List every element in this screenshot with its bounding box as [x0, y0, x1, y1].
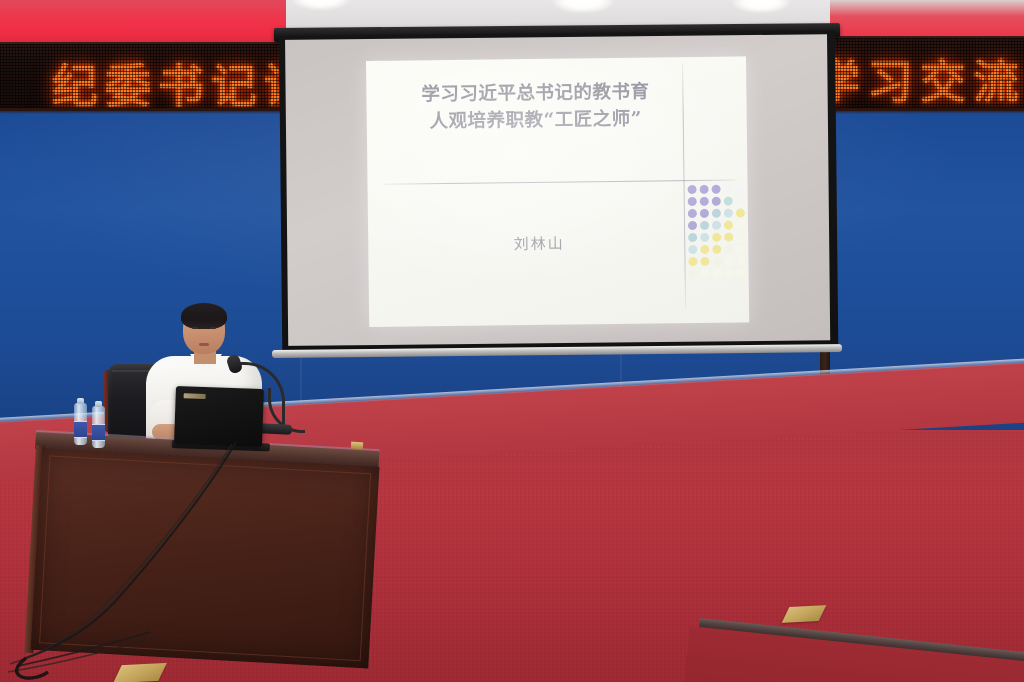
- slide-dot: [688, 209, 697, 218]
- cable-bundle: [0, 420, 400, 682]
- slide-dot: [712, 185, 721, 194]
- slide-dot: [688, 185, 697, 194]
- slide-dot: [724, 221, 733, 230]
- slide-dot: [712, 197, 721, 206]
- slide-dot: [724, 197, 733, 206]
- slide-dot: [724, 209, 733, 218]
- led-banner-right-text: 学习交流会: [828, 46, 1024, 111]
- slide-dot: [700, 185, 709, 194]
- backdrop-red-band-right: [830, 0, 1024, 40]
- slide-dot: [688, 257, 697, 266]
- slide-dot: [688, 233, 697, 242]
- slide-dot: [724, 233, 733, 242]
- slide-dot: [712, 209, 721, 218]
- backdrop-red-band-left: [0, 0, 286, 46]
- slide-dot: [700, 197, 709, 206]
- speaker-mouth: [199, 343, 209, 346]
- slide-dot: [724, 245, 733, 254]
- led-banner-right: 学习交流会: [828, 36, 1024, 111]
- slide-dot: [689, 269, 698, 278]
- slide-title-line-2: 人观培养职教“工匠之师”: [385, 106, 687, 137]
- slide-dot: [688, 221, 697, 230]
- slide-title-line-1: 学习习近平总书记的教书育: [384, 79, 686, 110]
- slide-dot: [712, 245, 721, 254]
- speaker-eye-right: [210, 327, 216, 329]
- slide-dot: [725, 269, 734, 278]
- slide-dot: [724, 257, 733, 266]
- slide-dot: [737, 268, 746, 277]
- slide-dot: [700, 233, 709, 242]
- projected-slide: 学习习近平总书记的教书育 人观培养职教“工匠之师” 刘林山: [366, 56, 749, 327]
- slide-dot: [688, 245, 697, 254]
- slide-dot: [736, 196, 745, 205]
- slide-dot: [700, 209, 709, 218]
- slide-dot: [701, 269, 710, 278]
- slide-dot: [688, 197, 697, 206]
- slide-dot: [724, 185, 733, 194]
- slide-dot: [712, 233, 721, 242]
- slide-dot: [736, 208, 745, 217]
- slide-dot: [700, 221, 709, 230]
- slide-dot: [736, 232, 745, 241]
- slide-dot-grid: [688, 184, 748, 280]
- bottle-cap: [77, 398, 84, 404]
- led-banner-left: 纪委书记讲: [0, 42, 288, 111]
- laptop-logo-icon: [184, 393, 206, 399]
- led-banner-left-text: 纪委书记讲: [52, 50, 288, 111]
- slide-dot: [736, 220, 745, 229]
- slide-dot: [712, 221, 721, 230]
- lecture-hall-photo: 纪委书记讲 学习交流会 学习习近平总书记的教书育 人观培养职教“工匠之师” 刘林…: [0, 0, 1024, 682]
- slide-dot: [712, 257, 721, 266]
- bottle-cap: [95, 401, 102, 407]
- speaker-eye-left: [192, 327, 198, 329]
- slide-dot: [736, 184, 745, 193]
- slide-dot: [736, 256, 745, 265]
- slide-title: 学习习近平总书记的教书育 人观培养职教“工匠之师”: [384, 79, 687, 136]
- speaker-hair: [181, 303, 227, 329]
- slide-dot: [700, 257, 709, 266]
- slide-dot: [736, 244, 745, 253]
- slide-dot: [713, 269, 722, 278]
- slide-author-name: 刘林山: [454, 232, 624, 255]
- slide-dot: [700, 245, 709, 254]
